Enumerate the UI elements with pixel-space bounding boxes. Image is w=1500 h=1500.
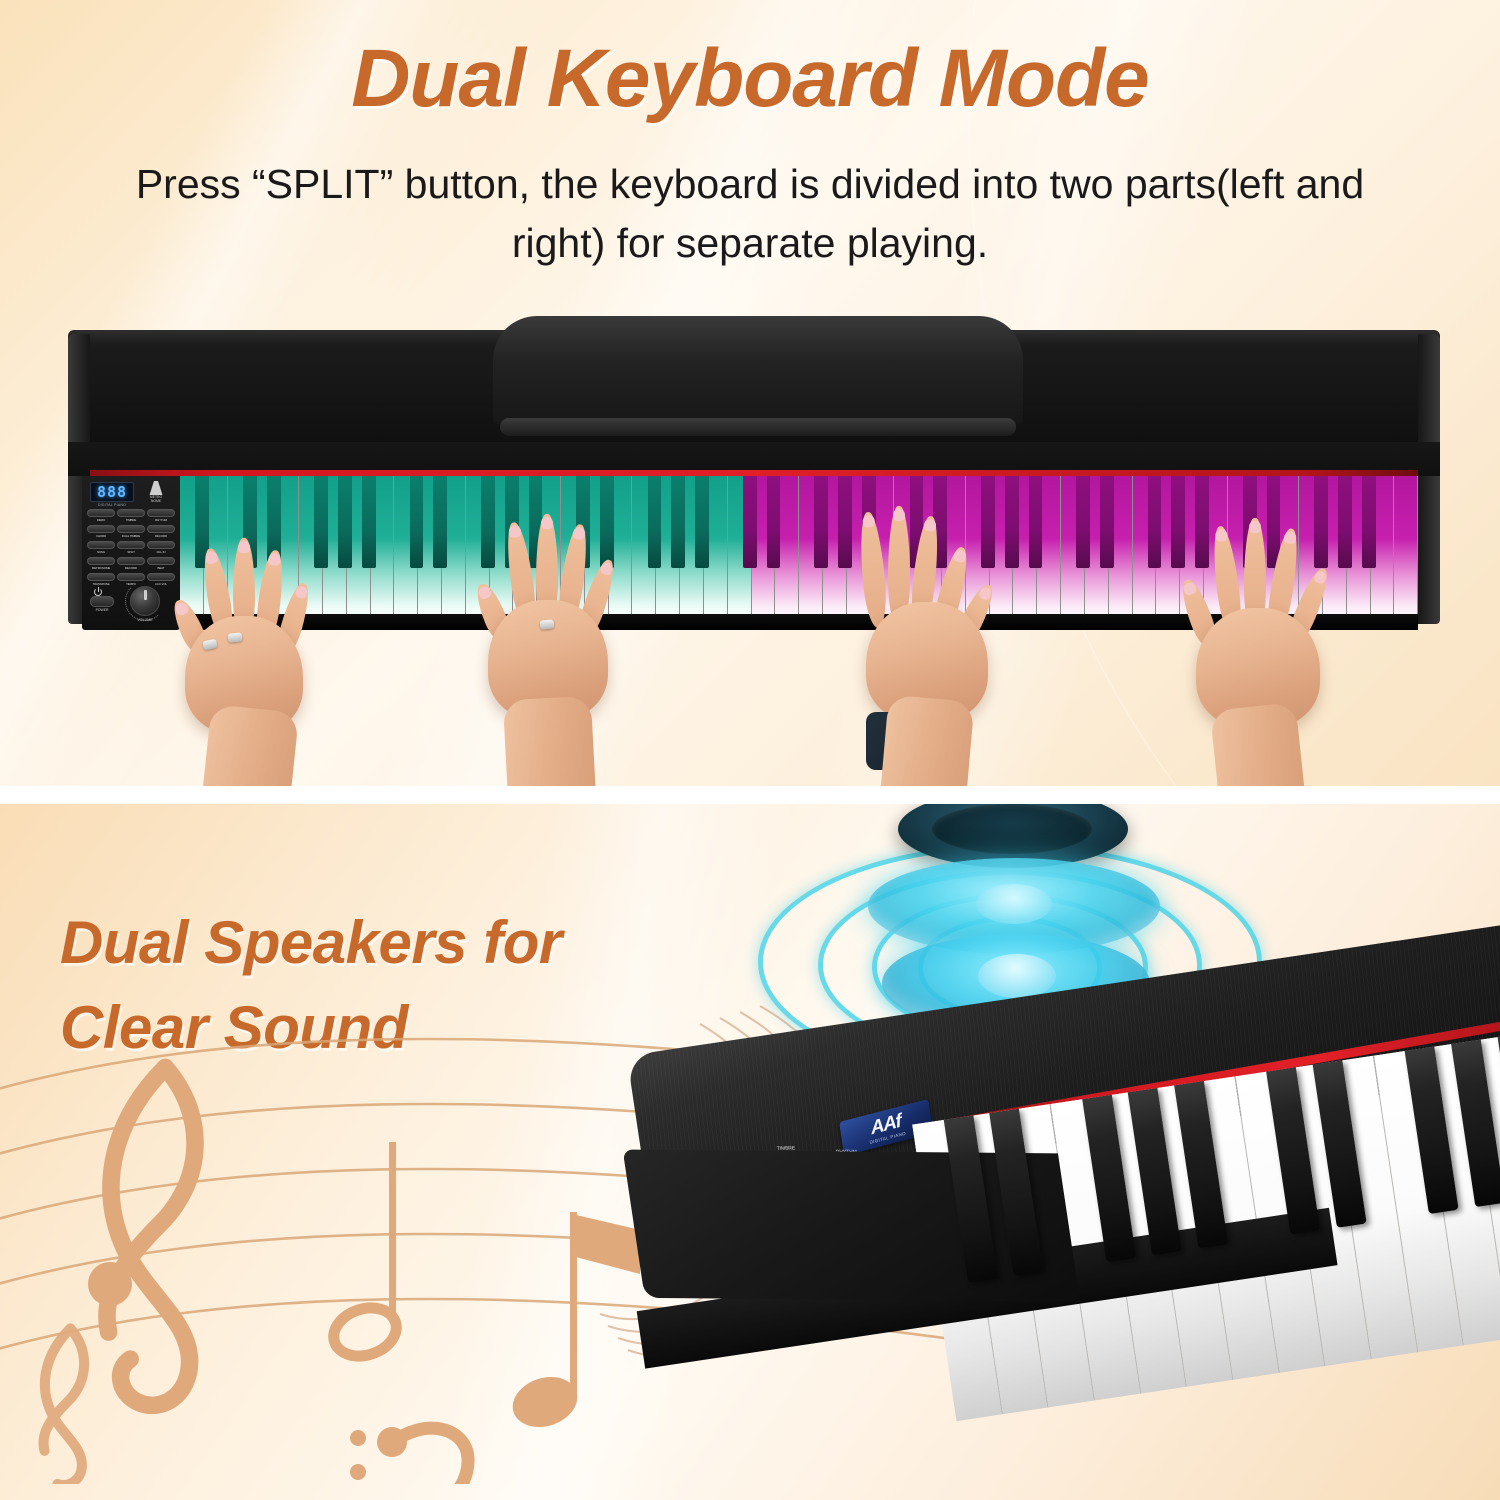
- ring: [202, 639, 218, 651]
- page-title: Dual Keyboard Mode: [0, 32, 1500, 126]
- black-key[interactable]: [671, 476, 685, 568]
- black-key[interactable]: [1029, 476, 1043, 568]
- arm: [871, 695, 974, 786]
- led-display-caption: DIGITAL PIANO: [90, 503, 134, 507]
- metronome-label-line2: NOME: [151, 499, 161, 503]
- digital-piano-front-view: 888 DIGITAL PIANO METRO NOME DEMO TIMBRE…: [68, 330, 1440, 630]
- black-key[interactable]: [1148, 476, 1162, 568]
- black-key[interactable]: [433, 476, 447, 568]
- black-key[interactable]: [410, 476, 424, 568]
- control-button-label: TRANSPOSE: [88, 582, 114, 586]
- control-button-grid: DEMO TIMBRE RHYTHM CHORD DUAL TIMBRE REC…: [87, 509, 175, 587]
- control-button-cell[interactable]: BEAT: [147, 557, 175, 571]
- sleeve: [866, 712, 946, 770]
- black-key[interactable]: [1076, 476, 1090, 568]
- control-button-cell[interactable]: DEMO: [87, 509, 115, 523]
- black-key[interactable]: [576, 476, 590, 568]
- music-rest: [493, 316, 1023, 424]
- black-key[interactable]: [695, 476, 709, 568]
- power-button-label: POWER: [86, 608, 118, 612]
- bass-clef-icon: [350, 1427, 468, 1484]
- black-key[interactable]: [648, 476, 662, 568]
- control-button-cell[interactable]: RHYTHM: [147, 509, 175, 523]
- black-key[interactable]: [1171, 476, 1185, 568]
- control-button-label: RECORD: [148, 534, 174, 538]
- treble-clef-dot: [88, 1262, 132, 1306]
- control-button-label: TIMBRE: [118, 518, 144, 522]
- piano-keyboard-split[interactable]: [180, 476, 1418, 624]
- black-key[interactable]: [243, 476, 257, 568]
- control-button-cell[interactable]: SONG: [87, 541, 115, 555]
- black-key[interactable]: [362, 476, 376, 568]
- control-button-label: RHYTHM: [148, 518, 174, 522]
- arm: [1210, 702, 1316, 786]
- control-button-cell[interactable]: RECORD: [117, 557, 145, 571]
- black-key[interactable]: [195, 476, 209, 568]
- black-key[interactable]: [314, 476, 328, 568]
- black-key[interactable]: [743, 476, 757, 568]
- control-button-label: BEAT: [148, 566, 174, 570]
- palm: [185, 616, 303, 734]
- control-button-cell[interactable]: DUAL TIMBRE: [117, 525, 145, 539]
- dual-keyboard-mode-section: Dual Keyboard Mode Press “SPLIT” button,…: [0, 0, 1500, 786]
- control-button-label: DUAL TIMBRE: [118, 534, 144, 538]
- black-key[interactable]: [267, 476, 281, 568]
- control-button-label: SONG: [88, 550, 114, 554]
- black-key[interactable]: [481, 476, 495, 568]
- white-key[interactable]: [1394, 476, 1418, 624]
- metronome-icon: [148, 481, 165, 495]
- control-button-label: FILL IN: [148, 550, 174, 554]
- treble-clef-icon-small: [43, 1328, 84, 1484]
- power-icon: [94, 588, 102, 596]
- led-display: 888: [90, 482, 134, 502]
- black-key[interactable]: [981, 476, 995, 568]
- music-rest-lip: [500, 418, 1016, 436]
- control-button-cell[interactable]: TRANSPOSE: [87, 573, 115, 587]
- black-key[interactable]: [505, 476, 519, 568]
- black-key[interactable]: [767, 476, 781, 568]
- black-key[interactable]: [1314, 476, 1328, 568]
- eighth-note-icon: [506, 1212, 640, 1435]
- control-panel: 888 DIGITAL PIANO METRO NOME DEMO TIMBRE…: [82, 476, 180, 630]
- black-key[interactable]: [600, 476, 614, 568]
- black-key[interactable]: [1267, 476, 1281, 568]
- power-button[interactable]: [90, 596, 114, 607]
- keyboard-front-shadow: [180, 614, 1418, 630]
- control-button-cell[interactable]: FILL IN: [147, 541, 175, 555]
- metronome-button[interactable]: METRO NOME: [140, 481, 172, 507]
- arm: [191, 704, 299, 786]
- dual-speakers-section: Dual Speakers for Clear Sound: [0, 804, 1500, 1500]
- black-key[interactable]: [1362, 476, 1376, 568]
- metronome-button-label: METRO NOME: [140, 496, 172, 504]
- black-key[interactable]: [814, 476, 828, 568]
- black-key[interactable]: [933, 476, 947, 568]
- section-divider: [0, 786, 1500, 804]
- control-button-label: DEMO: [88, 518, 114, 522]
- black-key[interactable]: [338, 476, 352, 568]
- control-button-label: METRONOME: [88, 566, 114, 570]
- black-key[interactable]: [529, 476, 543, 568]
- control-button-cell-split[interactable]: SPLIT: [117, 541, 145, 555]
- black-key[interactable]: [1195, 476, 1209, 568]
- control-button-cell[interactable]: CHORD: [87, 525, 115, 539]
- black-key[interactable]: [1005, 476, 1019, 568]
- black-key[interactable]: [1243, 476, 1257, 568]
- black-key[interactable]: [862, 476, 876, 568]
- volume-knob-label: VOLUME: [130, 618, 160, 622]
- black-key[interactable]: [910, 476, 924, 568]
- black-key[interactable]: [1338, 476, 1352, 568]
- arm: [503, 696, 601, 786]
- page-subtitle: Press “SPLIT” button, the keyboard is di…: [120, 155, 1380, 274]
- control-button-label: RECORD: [118, 566, 144, 570]
- control-button-label: CHORD: [88, 534, 114, 538]
- piano-right-side-panel: [1418, 334, 1440, 624]
- half-note-icon: [327, 1142, 402, 1364]
- black-key[interactable]: [1100, 476, 1114, 568]
- led-digit-readout: 888: [97, 485, 127, 500]
- control-button-cell[interactable]: METRONOME: [87, 557, 115, 571]
- control-button-cell[interactable]: TIMBRE: [117, 509, 145, 523]
- black-key[interactable]: [838, 476, 852, 568]
- ring: [228, 632, 243, 642]
- bottom-title-line1: Dual Speakers for: [60, 909, 562, 976]
- control-button-cell[interactable]: RECORD: [147, 525, 175, 539]
- split-button-label: SPLIT: [118, 550, 144, 554]
- volume-knob[interactable]: [130, 586, 160, 616]
